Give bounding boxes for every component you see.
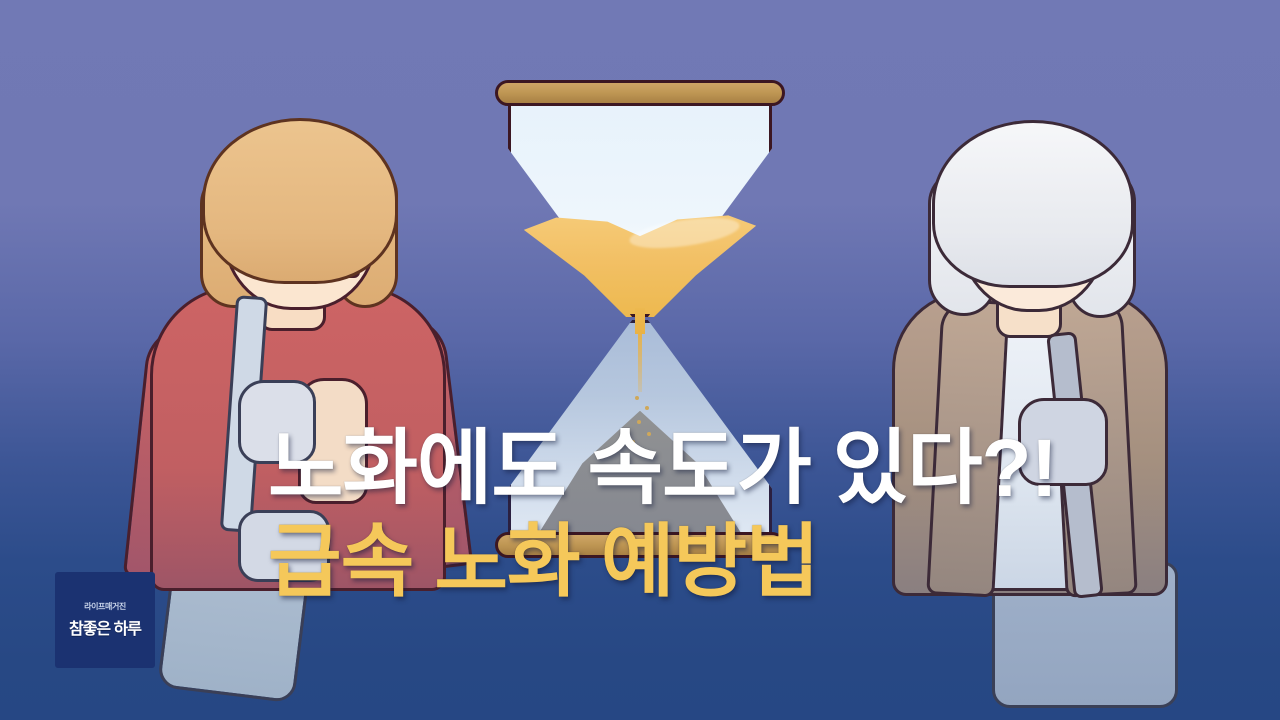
- headline-block: 노화에도 속도가 있다?! 급속 노화 예방법: [268, 428, 1057, 602]
- thumbnail-canvas: 노화에도 속도가 있다?! 급속 노화 예방법 라이프매거진 참좋은 하루: [0, 0, 1280, 720]
- older-woman-hair-top: [932, 120, 1134, 288]
- hourglass-upper-bulb: [508, 101, 772, 317]
- brand-logo[interactable]: 라이프매거진 참좋은 하루: [55, 572, 155, 668]
- young-woman-hair-top: [202, 118, 398, 284]
- sand-grain: [635, 396, 639, 400]
- logo-kicker-text: 라이프매거진: [84, 601, 126, 612]
- headline-line-2: 급속 노화 예방법: [268, 522, 1057, 602]
- sand-grain: [645, 406, 649, 410]
- hourglass-sand-stream: [638, 330, 642, 392]
- logo-name-text: 참좋은 하루: [69, 615, 141, 639]
- headline-line-1: 노화에도 속도가 있다?!: [268, 428, 1057, 510]
- hourglass-top-cap: [495, 80, 785, 106]
- hourglass-upper-glass-outline: [508, 101, 772, 317]
